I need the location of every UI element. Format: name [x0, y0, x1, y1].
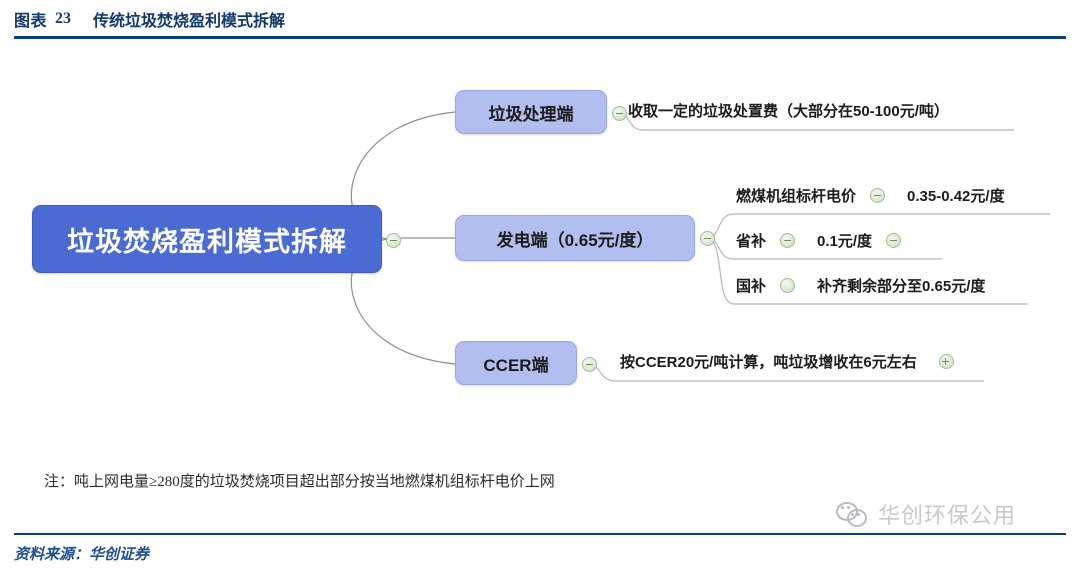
mindmap-canvas: 垃圾焚烧盈利模式拆解 垃圾处理端 收取一定的垃圾处置费（大部分在50-100元/…	[0, 40, 1080, 460]
branch-label-waste-treatment: 垃圾处理端	[489, 100, 574, 125]
leaf-provincial-subsidy[interactable]: 省补 0.1元/度	[736, 225, 901, 259]
leaf-ccer-revenue-text: 按CCER20元/吨计算，吨垃圾增收在6元左右	[620, 351, 917, 372]
branch-label-power-generation: 发电端（0.65元/度）	[497, 226, 654, 251]
leaf-ccer-revenue[interactable]: 按CCER20元/吨计算，吨垃圾增收在6元左右	[620, 345, 954, 381]
mindmap-branch-ccer[interactable]: CCER端	[455, 341, 577, 385]
exhibit-label: 图表	[14, 7, 47, 31]
watermark-text: 华创环保公用	[878, 498, 1016, 530]
leaf-provincial-subsidy-label: 省补	[736, 230, 766, 251]
leaf-national-subsidy-label: 国补	[736, 275, 766, 296]
collapse-minus-icon-ccer[interactable]	[582, 357, 597, 372]
source-line: 资料来源：华创证券	[14, 543, 149, 564]
footnote: 注：吨上网电量≥280度的垃圾焚烧项目超出部分按当地燃煤机组标杆电价上网	[44, 470, 555, 491]
leaf-coal-benchmark-value: 0.35-0.42元/度	[907, 185, 1005, 206]
leaf-national-subsidy-value: 补齐剩余部分至0.65元/度	[817, 275, 985, 296]
bullet-circle-icon-national-subsidy[interactable]	[780, 278, 795, 293]
collapse-minus-icon-power-generation[interactable]	[700, 231, 715, 246]
exhibit-number: 23	[55, 10, 71, 28]
leaf-national-subsidy[interactable]: 国补 补齐剩余部分至0.65元/度	[736, 270, 985, 304]
expand-plus-icon-ccer[interactable]	[939, 354, 954, 369]
branch-label-ccer: CCER端	[483, 351, 548, 376]
mindmap-branch-power-generation[interactable]: 发电端（0.65元/度）	[455, 215, 695, 261]
leaf-waste-fee[interactable]: 收取一定的垃圾处置费（大部分在50-100元/吨）	[628, 94, 949, 130]
mindmap-root-node[interactable]: 垃圾焚烧盈利模式拆解	[32, 205, 382, 273]
leaf-coal-benchmark-label: 燃煤机组标杆电价	[736, 185, 856, 206]
page-title: 传统垃圾焚烧盈利模式拆解	[93, 7, 285, 31]
collapse-minus-icon-provincial-subsidy-trailing[interactable]	[886, 233, 901, 248]
mindmap-branch-waste-treatment[interactable]: 垃圾处理端	[455, 90, 607, 134]
header-divider	[14, 36, 1066, 39]
leaf-provincial-subsidy-value: 0.1元/度	[817, 230, 872, 251]
collapse-minus-icon-coal-benchmark[interactable]	[870, 188, 885, 203]
watermark: 华创环保公用	[836, 498, 1016, 530]
leaf-waste-fee-text: 收取一定的垃圾处置费（大部分在50-100元/吨）	[628, 100, 949, 121]
collapse-minus-icon-waste-treatment[interactable]	[612, 106, 627, 121]
collapse-minus-icon-provincial-subsidy[interactable]	[780, 233, 795, 248]
collapse-minus-icon-root[interactable]	[386, 233, 401, 248]
mindmap-root-label: 垃圾焚烧盈利模式拆解	[67, 220, 347, 259]
wechat-icon	[836, 501, 870, 527]
leaf-coal-benchmark-price[interactable]: 燃煤机组标杆电价 0.35-0.42元/度	[736, 180, 1005, 214]
exhibit-header: 图表 23 传统垃圾焚烧盈利模式拆解	[0, 0, 1080, 38]
footer-divider	[14, 533, 1066, 535]
